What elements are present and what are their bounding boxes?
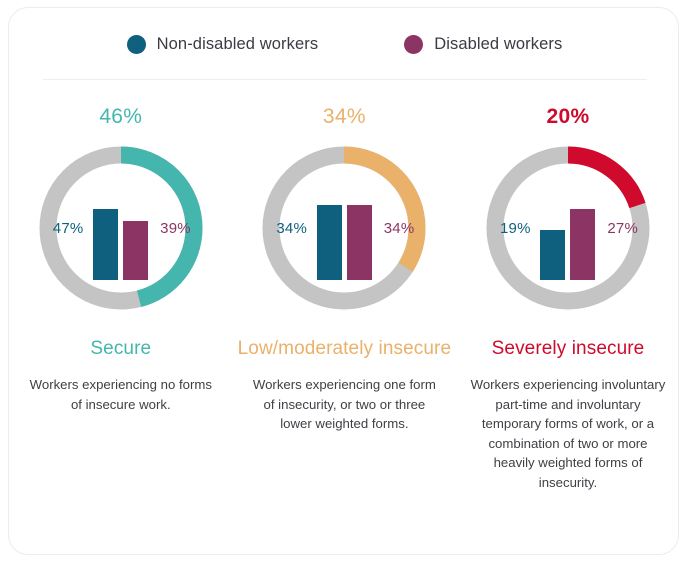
donut-chart-low-moderately-insecure: 34% 34%: [254, 138, 434, 318]
bar-value-non-disabled: 47%: [53, 138, 84, 318]
legend: Non-disabled workers Disabled workers: [9, 35, 679, 54]
category-label: Secure: [90, 336, 151, 361]
bar-non-disabled: [317, 205, 342, 280]
headline-percentage: 46%: [99, 104, 142, 130]
circle-icon: [127, 35, 146, 54]
category-description: Workers experiencing no forms of insecur…: [28, 375, 214, 414]
legend-item-disabled: Disabled workers: [404, 35, 562, 54]
donut-chart-secure: 47% 39%: [31, 138, 211, 318]
bar-value-disabled: 27%: [607, 138, 638, 318]
bar-disabled: [123, 221, 148, 280]
legend-label-non-disabled: Non-disabled workers: [157, 35, 319, 54]
chart-columns: 46% 47% 39% Secure Workers experiencing …: [9, 104, 679, 492]
legend-label-disabled: Disabled workers: [434, 35, 562, 54]
circle-icon: [404, 35, 423, 54]
bar-value-disabled: 34%: [384, 138, 415, 318]
legend-item-non-disabled: Non-disabled workers: [127, 35, 319, 54]
headline-percentage: 20%: [547, 104, 590, 130]
bar-disabled: [347, 205, 372, 280]
bar-non-disabled: [540, 230, 565, 280]
infographic-card: Non-disabled workers Disabled workers 46…: [8, 7, 679, 555]
headline-percentage: 34%: [323, 104, 366, 130]
category-label: Severely insecure: [492, 336, 645, 361]
bar-non-disabled: [93, 209, 118, 280]
category-description: Workers experiencing involuntary part-ti…: [470, 375, 666, 492]
bar-value-disabled: 39%: [160, 138, 191, 318]
header-divider: [43, 79, 647, 80]
bar-disabled: [570, 209, 595, 280]
donut-chart-severely-insecure: 19% 27%: [478, 138, 658, 318]
chart-group-low-moderately-insecure: 34% 34% 34% Low/moderately insecure Work…: [233, 104, 457, 492]
bar-value-non-disabled: 19%: [500, 138, 531, 318]
category-description: Workers experiencing one form of insecur…: [251, 375, 437, 434]
chart-group-severely-insecure: 20% 19% 27% Severely insecure Workers ex…: [456, 104, 679, 492]
bar-value-non-disabled: 34%: [276, 138, 307, 318]
chart-group-secure: 46% 47% 39% Secure Workers experiencing …: [9, 104, 233, 492]
category-label: Low/moderately insecure: [238, 336, 452, 361]
